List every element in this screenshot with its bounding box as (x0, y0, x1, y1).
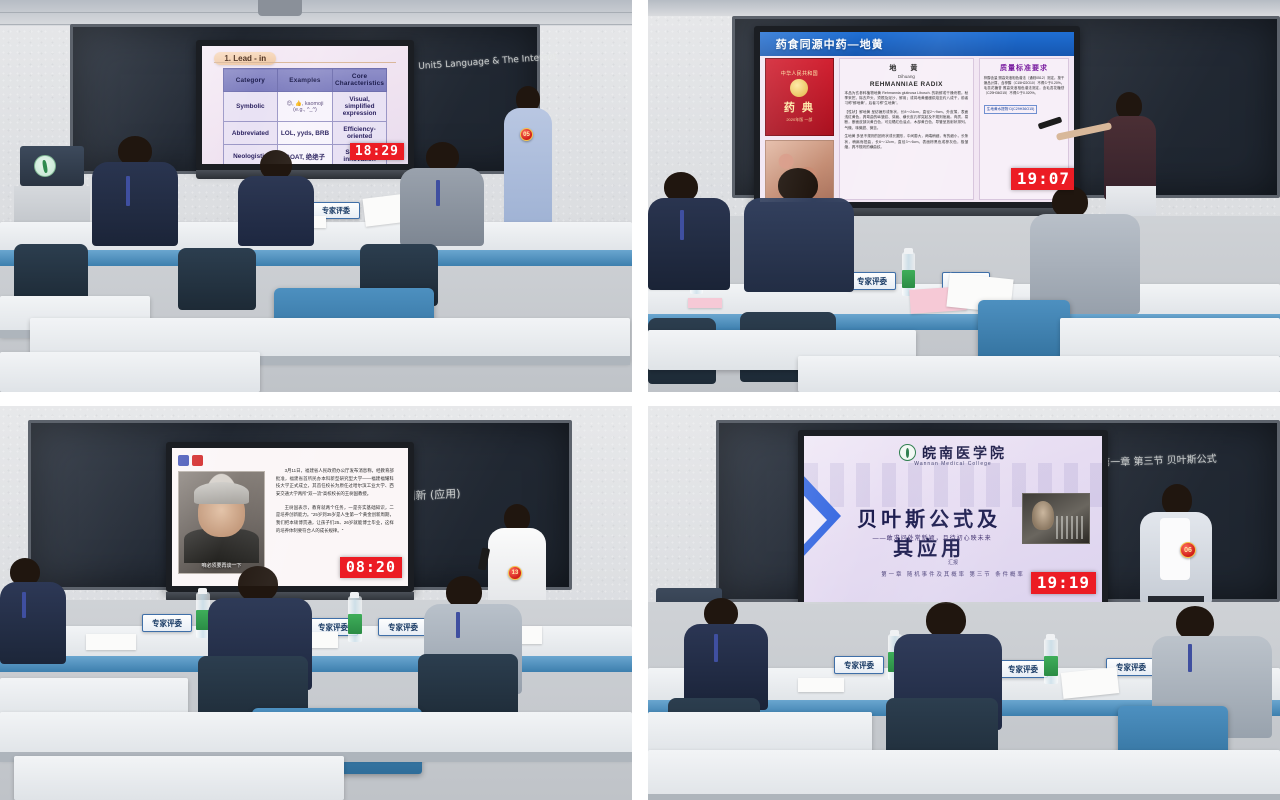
student-desk (798, 356, 1280, 392)
judge-figure (1030, 186, 1140, 314)
judge-body (92, 162, 178, 246)
herb-paragraph-2: 【性状】鲜地黄 呈纺锤形或条状，长8～24cm，直径2～9cm。外皮薄，表面浅红… (845, 110, 969, 132)
cell-examples: LOL, yyds, BRB (278, 122, 333, 145)
table-row: Symbolic 😊, 👍, kaomoji (e.g., ^_^) Visua… (223, 92, 387, 122)
countdown-timer: 08:20 (340, 557, 402, 578)
judge-body (648, 198, 730, 290)
app-icon-red (192, 455, 203, 466)
cell-category: Abbreviated (223, 122, 278, 145)
ceiling (648, 0, 1280, 16)
slide-section-tag: 1. Lead - in (214, 52, 276, 65)
chair (14, 244, 88, 304)
photo-panel-top-right: 药食同源中药—地黄 中华人民共和国 药 典 2020年版 一部 地 黄 Di (648, 0, 1280, 392)
column-header-core: Core Characteristics (332, 69, 387, 92)
teacher-body (504, 108, 552, 228)
news-paragraph-2: 王树国表示，教育就两个任务，一是夯实基础知识，二是培养创新能力。"25岁到35岁… (276, 504, 394, 535)
chevron-shape-inner (804, 480, 827, 560)
book-title: 药 典 (784, 99, 815, 115)
cell-category: Symbolic (223, 92, 278, 122)
photo-panel-bottom-right: 第一章 第三节 贝叶斯公式 皖南医学院 Wannan Medical Colle… (648, 406, 1280, 800)
pharmacopoeia-book-cover: 中华人民共和国 药 典 2020年版 一部 (765, 58, 834, 137)
bottle-cap (350, 592, 359, 598)
app-icon-blue (178, 455, 189, 466)
national-emblem-icon (790, 79, 808, 97)
judge-head (1176, 606, 1214, 640)
desk-edge (648, 794, 1280, 800)
cell-core: Visual, simplified expression (332, 92, 387, 122)
nameplate-judge: 专家评委 (998, 660, 1048, 678)
herb-pinyin: Dihuang (845, 74, 969, 79)
countdown-timer: 18:29 (350, 143, 404, 160)
slide-main-title: 贝叶斯公式及其应用 (846, 503, 1013, 561)
podium-base (14, 186, 90, 226)
judge-body (744, 198, 854, 292)
university-name-en: Wannan Medical College (804, 461, 1102, 467)
cell-core: Efficiency-oriented (332, 122, 387, 145)
collage-gutter-horizontal (0, 392, 1280, 406)
chair (178, 248, 256, 310)
table-row: Abbreviated LOL, yyds, BRB Efficiency-or… (223, 122, 387, 145)
bottle-label (1044, 656, 1058, 676)
cell-examples: 😊, 👍, kaomoji (e.g., ^_^) (278, 92, 333, 122)
nameplate-judge: 专家评委 (834, 656, 884, 674)
nameplate-label: 专家评委 (152, 617, 182, 629)
teacher-badge: 06 (1180, 542, 1196, 558)
judge-figure (684, 598, 768, 710)
ceiling (0, 0, 632, 26)
presentation-screen: 皖南医学院 Wannan Medical College 贝叶斯公式及其应用 —… (798, 430, 1108, 610)
slide-footer-label: 汇报 (804, 559, 1102, 566)
bayes-portrait-image (1022, 493, 1091, 543)
quality-standard-text: 梓醇含量 照高效液相色谱法（通则0512）测定。按干燥品计算，含梓醇（C15H2… (984, 76, 1064, 97)
slide-icon-group (178, 455, 203, 466)
lanyard (22, 592, 26, 618)
judge-figure (400, 142, 484, 246)
column-header-category: Category (223, 69, 278, 92)
nameplate-judge: 专家评委 (848, 272, 896, 290)
document-sheet (798, 678, 844, 692)
lanyard (1188, 644, 1192, 672)
lanyard (456, 612, 460, 638)
judge-body (0, 582, 66, 664)
document-sheet (86, 634, 136, 650)
ceiling-fixture (258, 0, 302, 16)
photo-panel-top-left: Unit5 Language & The Internet 1. Lead - … (0, 0, 632, 392)
student-desk (0, 352, 260, 392)
bottle-cap (198, 588, 207, 594)
judge-figure (238, 150, 314, 246)
teacher-figure: 05 (500, 86, 556, 228)
pink-document (688, 298, 722, 308)
herb-paragraph-3: 生地黄 多呈不规则的团块状或长圆形，中间膨大，两端稍细，有的细小，长条状，稍扁而… (845, 134, 969, 150)
lanyard (714, 634, 718, 662)
book-top-line: 中华人民共和国 (781, 70, 818, 77)
nameplate-label: 专家评委 (844, 659, 874, 671)
slide-divider (214, 62, 395, 63)
herb-name-cn: 地 黄 (845, 63, 969, 73)
judge-head (926, 602, 966, 638)
judge-figure (648, 172, 730, 290)
news-paragraph-1: 3月11日，福建省人民政府办公厅发布消息称，经教育部批准，福建省首所民办本科新型… (276, 467, 394, 498)
desk-front-panel (0, 656, 632, 672)
judge-head (238, 566, 278, 602)
teacher-badge: 05 (520, 128, 533, 141)
column-header-examples: Examples (278, 69, 333, 92)
lanyard (126, 176, 130, 206)
slide-banner-title: 药食同源中药—地黄 (760, 32, 1074, 56)
slide-center-column: 地 黄 Dihuang REHMANNIAE RADIX 本品为玄参科植物地黄 … (839, 58, 975, 201)
bottle-label (902, 270, 915, 288)
desk-front-panel (0, 250, 632, 266)
book-edition: 2020年版 一部 (786, 117, 812, 123)
judge-figure (0, 558, 66, 664)
nameplate-judge: 专家评委 (378, 618, 428, 636)
news-portrait-photo: 咱必须要再谈一下 (178, 471, 265, 573)
nameplate-label: 专家评委 (388, 621, 418, 633)
university-logo-icon (899, 444, 916, 461)
lanyard (680, 210, 684, 240)
nameplate-label: 专家评委 (322, 205, 350, 216)
nameplate-label: 专家评委 (857, 275, 887, 287)
bottle-cap (904, 248, 913, 254)
bottle-label (348, 614, 362, 634)
table-header-row: Category Examples Core Characteristics (223, 69, 387, 92)
slide-subtitle: ——敢求问处常新颖，且待初心映未来 (852, 533, 1013, 542)
judge-body (1030, 214, 1140, 314)
student-desk (648, 750, 1280, 800)
judge-body (400, 168, 484, 246)
herb-name-latin: REHMANNIAE RADIX (845, 81, 969, 88)
lanyard (436, 180, 440, 206)
bottle-cap (1046, 634, 1055, 640)
chemical-formula: 生地黄水提物 D(C29H36O15) (984, 105, 1038, 114)
quality-standard-heading: 质量标准要求 (984, 63, 1064, 73)
photo-collage: Unit5 Language & The Internet 1. Lead - … (0, 0, 1280, 800)
student-desk (14, 756, 344, 800)
photo-panel-bottom-left: 创新 (应用) 咱必须要再谈一下 3月11日，福建省人民政 (0, 406, 632, 800)
podium-emblem-icon (34, 155, 56, 177)
countdown-timer: 19:19 (1031, 572, 1096, 594)
university-logo-row: 皖南医学院 (804, 443, 1102, 463)
university-name-cn: 皖南医学院 (922, 443, 1007, 463)
judge-body (238, 176, 314, 246)
nameplate-label: 专家评委 (1008, 663, 1038, 675)
portrait-hair (194, 482, 249, 504)
nameplate-judge: 专家评委 (142, 614, 192, 632)
judge-head (778, 168, 818, 202)
ceiling-line (0, 12, 632, 13)
judge-figure (744, 168, 854, 292)
nameplate-label: 专家评委 (1116, 661, 1146, 673)
herb-paragraph-1: 本品为玄参科植物地黄 Rehmannia glutinosa Libosch. … (845, 91, 969, 107)
judge-figure (92, 136, 178, 246)
countdown-timer: 19:07 (1011, 168, 1076, 190)
